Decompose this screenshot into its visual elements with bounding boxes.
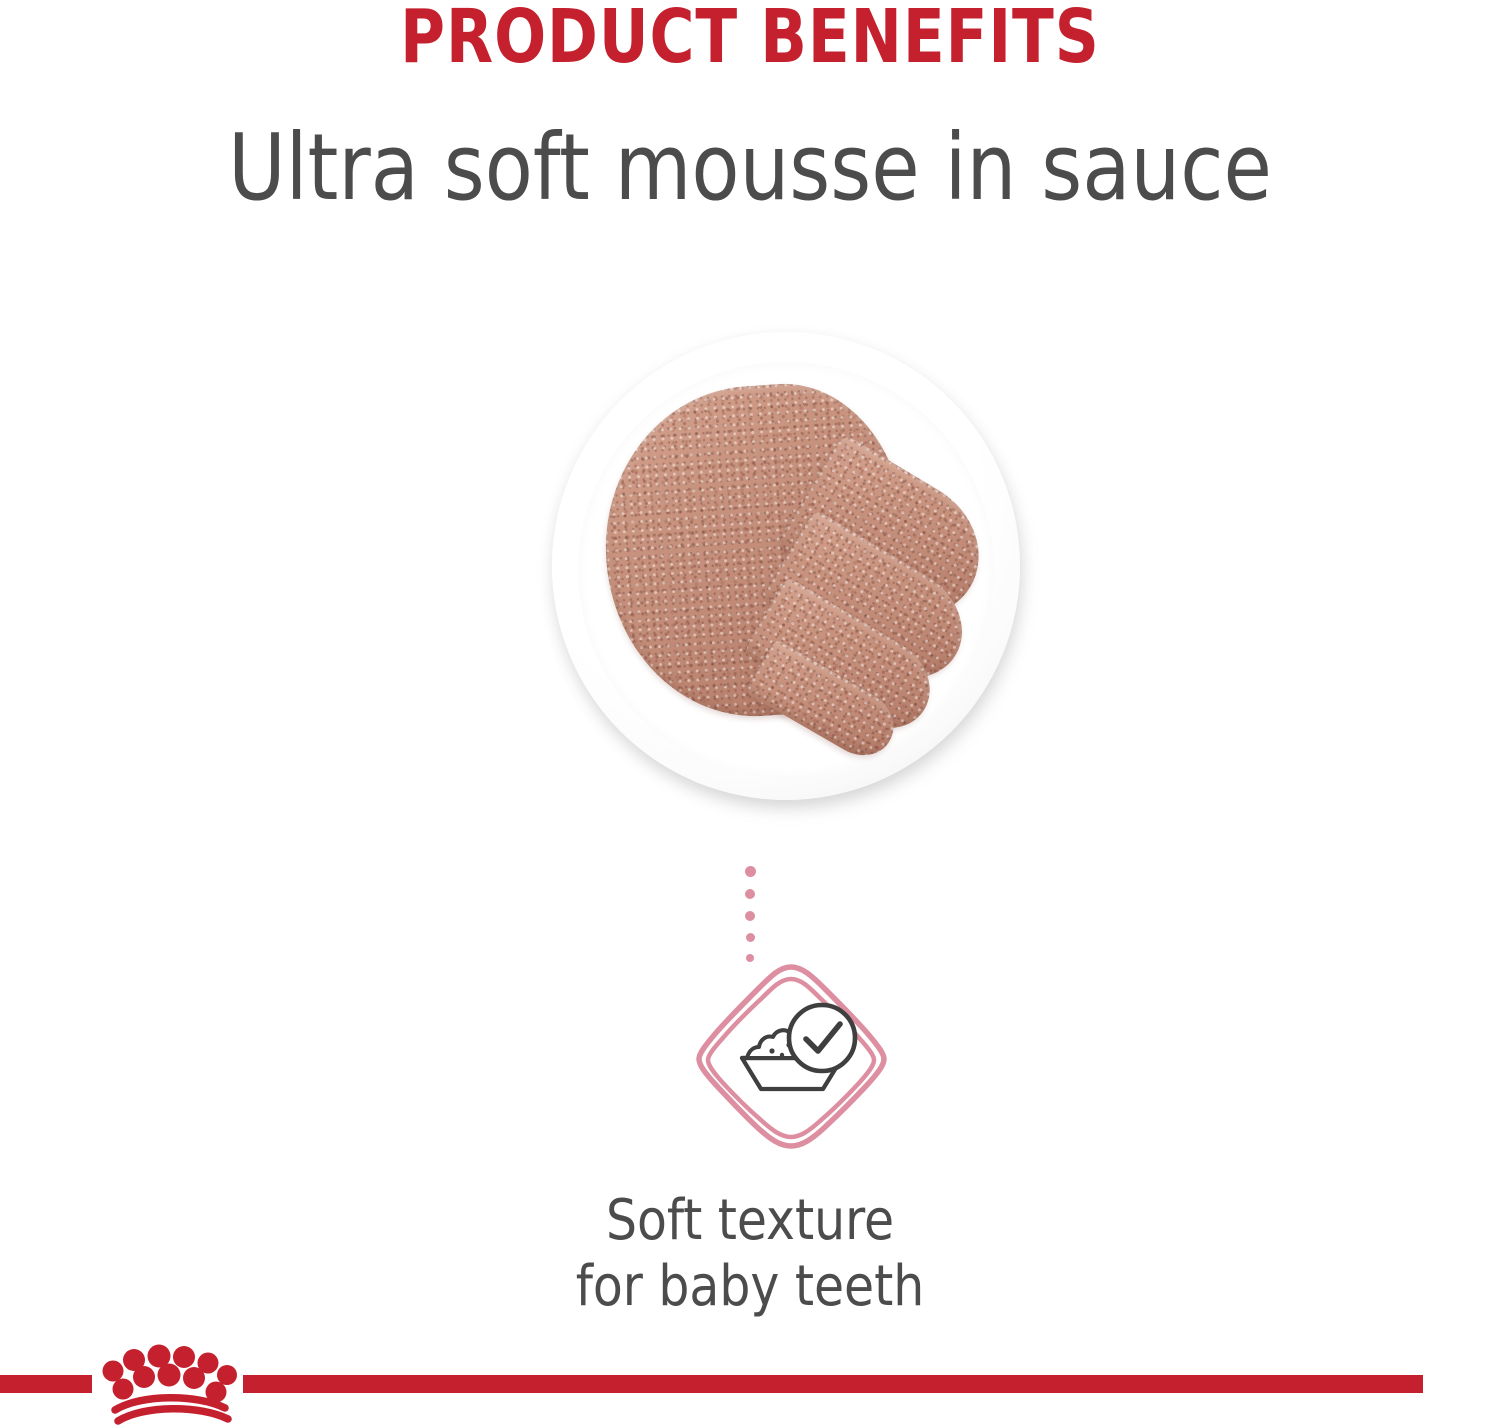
dotted-connector (0, 866, 1500, 962)
connector-dot (745, 889, 755, 899)
mousse-portion (600, 376, 980, 768)
royal-canin-crown-logo (96, 1344, 242, 1426)
product-food-photo (548, 324, 1026, 824)
benefit-caption-line-2: for baby teeth (23, 1254, 1478, 1320)
connector-dot (746, 933, 755, 942)
food-bowl-check-icon (694, 962, 890, 1150)
benefit-caption-line-1: Soft texture (23, 1188, 1478, 1254)
footer-rule-left (0, 1375, 92, 1393)
connector-dot (745, 911, 755, 921)
benefit-caption: Soft texture for baby teeth (23, 1188, 1478, 1319)
connector-dot (746, 954, 754, 962)
footer-rule-right (243, 1375, 1423, 1393)
page-title: Ultra soft mousse in sauce (38, 118, 1463, 217)
connector-dot (745, 866, 756, 877)
page-eyebrow-heading: PRODUCT BENEFITS (60, 0, 1440, 80)
